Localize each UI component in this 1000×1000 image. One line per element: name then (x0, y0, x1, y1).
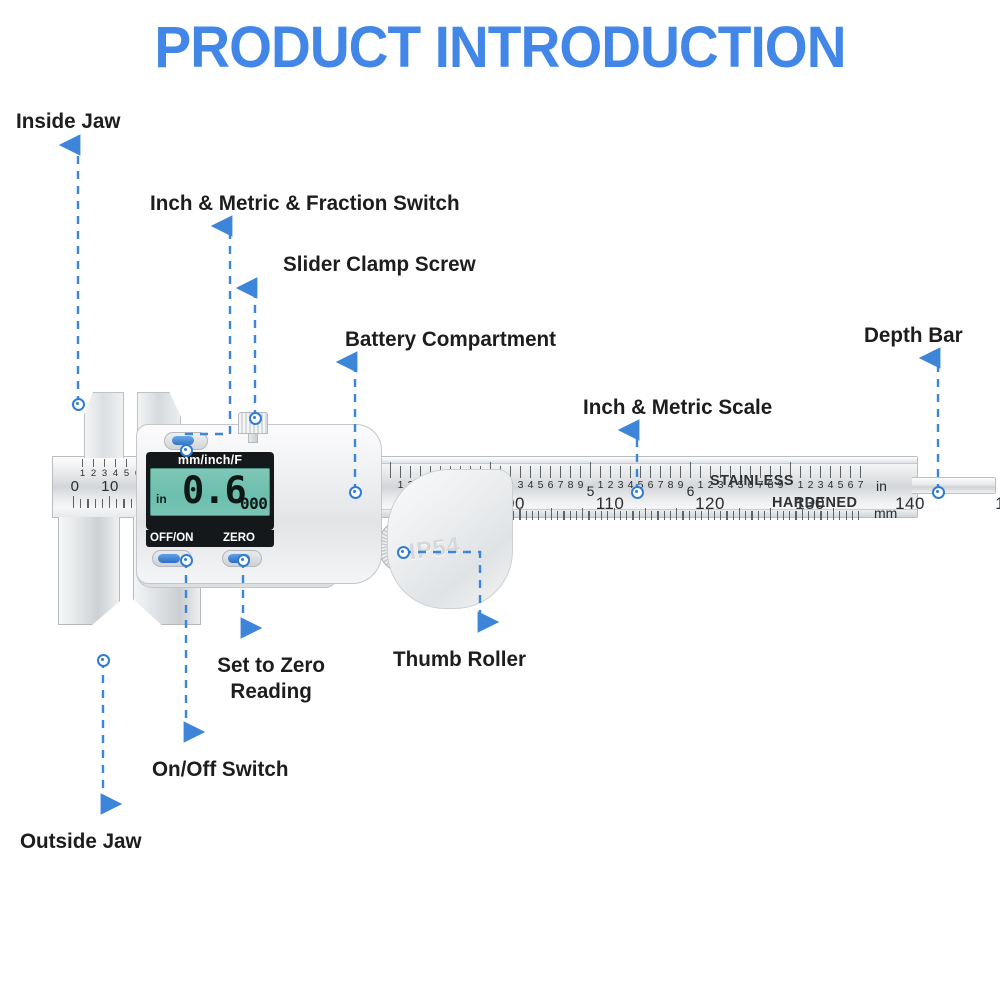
inch-tick (800, 466, 801, 478)
fixed-jaw-tick (126, 459, 127, 467)
depth-bar (912, 477, 996, 494)
metric-tick (701, 511, 702, 520)
fixed-jaw-minor-tick (123, 499, 124, 508)
fixed-jaw-minor-tick (80, 499, 81, 508)
digital-caliper-illustration: 1234567891234567891234567891234567891234… (0, 390, 1000, 630)
lcd-fraction-value: 000 (240, 494, 267, 513)
metric-tick (714, 511, 715, 520)
inch-tick (660, 466, 661, 478)
metric-tick (545, 511, 546, 520)
fixed-jaw-number: 0 (62, 478, 88, 495)
metric-tick (576, 511, 577, 520)
fixed-jaw-minor-tick (131, 499, 132, 508)
metric-tick (532, 511, 533, 520)
metric-tick (726, 511, 727, 520)
metric-tick (846, 511, 847, 520)
metric-tick (513, 511, 514, 520)
inch-tick (400, 466, 401, 478)
anchor-depth-bar (932, 486, 945, 499)
metric-tick (563, 511, 564, 520)
inch-minor-number: 4 (526, 479, 535, 491)
callout-label-depth-bar: Depth Bar (864, 322, 963, 348)
metric-tick (682, 511, 683, 520)
lcd-measurement-value: 0.6 (182, 468, 246, 514)
metric-tick (858, 511, 859, 520)
inch-minor-number: 4 (826, 479, 835, 491)
metric-tick (657, 511, 658, 520)
inch-tick (830, 466, 831, 478)
inch-tick (530, 466, 531, 478)
inch-minor-number: 8 (566, 479, 575, 491)
metric-tick (708, 508, 709, 520)
inch-tick (850, 466, 851, 478)
metric-tick (670, 511, 671, 520)
inch-tick (590, 462, 591, 478)
inch-minor-number: 7 (556, 479, 565, 491)
inch-minor-number: 5 (836, 479, 845, 491)
inch-minor-number: 6 (546, 479, 555, 491)
fixed-jaw-tick (93, 459, 94, 467)
inch-tick (520, 466, 521, 478)
metric-tick (777, 511, 778, 520)
metric-tick (601, 511, 602, 520)
metric-tick (651, 511, 652, 520)
metric-tick (695, 511, 696, 520)
inch-minor-number: 8 (666, 479, 675, 491)
inch-tick (540, 466, 541, 478)
inch-tick (600, 466, 601, 478)
inch-minor-number: 3 (816, 479, 825, 491)
metric-tick (620, 511, 621, 520)
metric-tick (827, 511, 828, 520)
anchor-outside-jaw (97, 654, 110, 667)
engraving-stainless: STAINLESS (710, 473, 794, 489)
metric-tick (689, 511, 690, 520)
inch-minor-number: 7 (856, 479, 865, 491)
inch-minor-number: 3 (616, 479, 625, 491)
callout-label-inside-jaw: Inside Jaw (16, 108, 120, 134)
metric-tick (795, 511, 796, 520)
inch-minor-number: 3 (516, 479, 525, 491)
inch-tick (410, 466, 411, 478)
lcd-mode-label: mm/inch/F (146, 452, 274, 468)
inch-tick (700, 466, 701, 478)
metric-tick (839, 511, 840, 520)
inch-unit-label: in (876, 478, 887, 494)
inch-minor-number: 5 (536, 479, 545, 491)
fixed-jaw-minor-tick (95, 499, 96, 508)
metric-tick (551, 508, 552, 520)
metric-unit-label: mm (874, 505, 897, 521)
anchor-set-to-zero (237, 554, 250, 567)
inch-tick (640, 466, 641, 478)
metric-tick (557, 511, 558, 520)
metric-tick (607, 511, 608, 520)
inch-minor-number: 6 (846, 479, 855, 491)
fixed-jaw-minor-tick (116, 499, 117, 508)
metric-tick (538, 511, 539, 520)
callout-label-on-off-switch: On/Off Switch (152, 756, 288, 782)
metric-tick (639, 511, 640, 520)
inch-tick (580, 466, 581, 478)
anchor-battery (349, 486, 362, 499)
callout-label-thumb-roller: Thumb Roller (393, 646, 526, 672)
anchor-scale (631, 486, 644, 499)
metric-number: 140 (892, 494, 928, 514)
inch-minor-number: 9 (676, 479, 685, 491)
outside-jaw-left (58, 517, 120, 625)
lcd-unit-indicator: in (156, 492, 167, 506)
off-on-button-label: OFF/ON (150, 531, 193, 546)
metric-tick (852, 511, 853, 520)
metric-tick (582, 508, 583, 520)
fixed-jaw-number: 10 (97, 478, 123, 495)
inch-tick (690, 462, 691, 478)
metric-tick (789, 511, 790, 520)
fixed-jaw-tick (104, 459, 105, 467)
inch-tick (390, 462, 391, 478)
metric-tick (626, 511, 627, 520)
metric-tick (764, 511, 765, 520)
anchor-thumb-roller (397, 546, 410, 559)
inch-minor-number: 1 (696, 479, 705, 491)
metric-tick (820, 511, 821, 520)
metric-tick (614, 508, 615, 520)
inch-tick (650, 466, 651, 478)
fixed-jaw-tick (115, 459, 116, 467)
metric-number: 120 (692, 494, 728, 514)
metric-tick (745, 511, 746, 520)
callout-label-inch-metric-scale: Inch & Metric Scale (583, 394, 772, 420)
metric-number: 110 (592, 494, 628, 514)
inch-minor-number: 1 (796, 479, 805, 491)
metric-tick (588, 511, 589, 520)
anchor-clamp-screw (249, 412, 262, 425)
inch-tick (550, 466, 551, 478)
inch-minor-number: 2 (606, 479, 615, 491)
product-introduction-diagram: PRODUCT INTRODUCTION 1234567891234567891… (0, 0, 1000, 1000)
inch-tick (630, 466, 631, 478)
metric-tick (676, 508, 677, 520)
metric-tick (519, 508, 520, 520)
callout-label-battery-compartment: Battery Compartment (345, 326, 556, 352)
metric-number: 150 (992, 494, 1000, 514)
inch-tick (560, 466, 561, 478)
callout-label-slider-clamp-screw: Slider Clamp Screw (283, 251, 476, 277)
metric-tick (808, 511, 809, 520)
anchor-switch (180, 444, 193, 457)
metric-tick (739, 508, 740, 520)
inch-minor-number: 1 (596, 479, 605, 491)
anchor-inside-jaw (72, 398, 85, 411)
inch-minor-number: 2 (806, 479, 815, 491)
inch-tick (570, 466, 571, 478)
metric-tick (758, 511, 759, 520)
inch-tick (820, 466, 821, 478)
zero-button-label: ZERO (223, 531, 255, 546)
callout-label-outside-jaw: Outside Jaw (20, 828, 142, 854)
anchor-on-off (180, 554, 193, 567)
fixed-jaw-minor-number: 5 (122, 468, 131, 479)
inch-tick (610, 466, 611, 478)
metric-tick (570, 511, 571, 520)
callout-label-set-to-zero-reading: Set to Zero Reading (217, 652, 325, 704)
metric-tick (664, 511, 665, 520)
clamp-screw-stem (248, 433, 258, 443)
inch-tick (840, 466, 841, 478)
callout-label-inch-metric-fraction-switch: Inch & Metric & Fraction Switch (150, 190, 460, 216)
page-title: PRODUCT INTRODUCTION (25, 14, 975, 81)
metric-tick (720, 511, 721, 520)
fixed-jaw-minor-tick (109, 496, 110, 508)
metric-tick (751, 511, 752, 520)
fixed-jaw-minor-tick (87, 499, 88, 508)
metric-tick (783, 511, 784, 520)
inch-tick (620, 466, 621, 478)
fixed-jaw-tick (82, 459, 83, 467)
metric-tick (526, 511, 527, 520)
inch-minor-number: 7 (656, 479, 665, 491)
fixed-jaw-minor-tick (102, 499, 103, 508)
metric-tick (814, 511, 815, 520)
inch-tick (680, 466, 681, 478)
metric-tick (632, 511, 633, 520)
inch-tick (810, 466, 811, 478)
engraving-hardened: HARDENED (772, 495, 857, 511)
fixed-jaw-minor-tick (73, 496, 74, 508)
inch-minor-number: 9 (576, 479, 585, 491)
inch-minor-number: 6 (646, 479, 655, 491)
inside-jaw-left (84, 392, 124, 458)
inch-tick (860, 466, 861, 478)
metric-tick (595, 511, 596, 520)
metric-tick (733, 511, 734, 520)
metric-tick (645, 508, 646, 520)
inch-tick (670, 466, 671, 478)
